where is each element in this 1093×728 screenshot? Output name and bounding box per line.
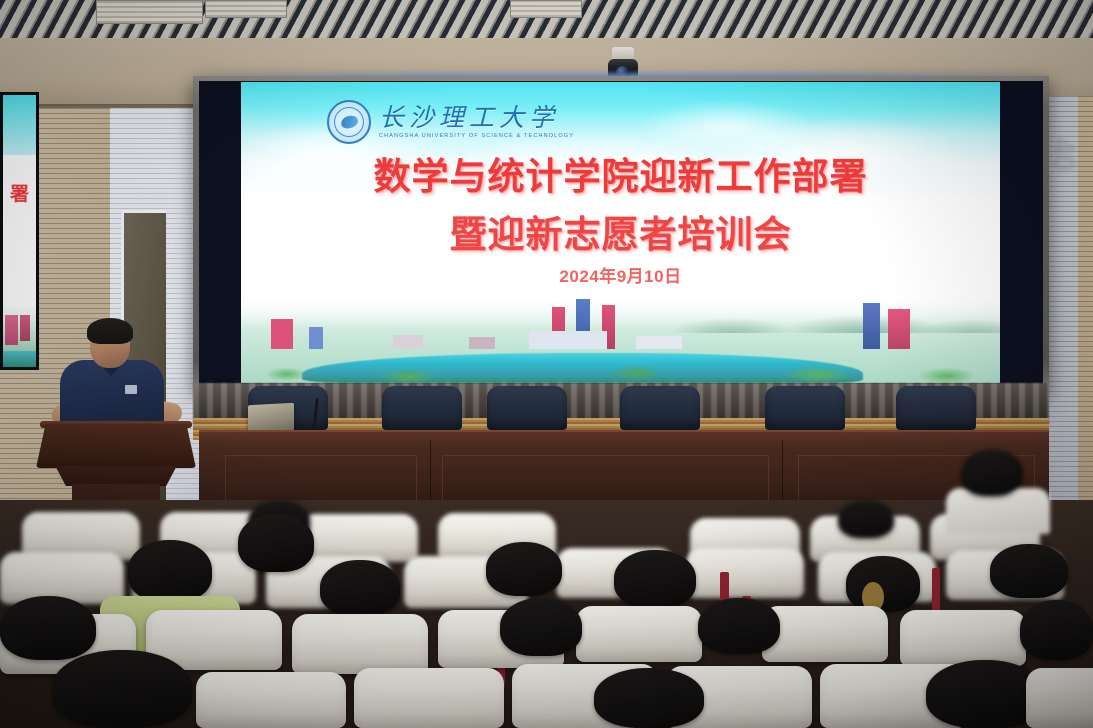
stage-chair (896, 386, 976, 430)
campus-panorama-image (241, 295, 1000, 383)
stage-chair (620, 386, 700, 430)
conference-hall-photo: 40 署 长沙理工大学 CHANGSHA UNIVERSITY OF SCIEN… (0, 0, 1093, 728)
audience-head (962, 452, 1020, 496)
speaker-podium (36, 424, 196, 468)
audience-head (614, 550, 696, 608)
audience-head (990, 544, 1068, 598)
audience-head (1020, 600, 1093, 660)
audience-seat (1026, 668, 1093, 728)
laptop-icon (248, 403, 294, 433)
audience-seat (686, 548, 804, 598)
audience-head (486, 542, 562, 596)
slide-title-line1: 数学与统计学院迎新工作部署 (241, 154, 1000, 201)
led-wall-panel: 长沙理工大学 CHANGSHA UNIVERSITY OF SCIENCE & … (199, 81, 1043, 384)
speaker-hair (87, 318, 133, 344)
audience-seat (196, 672, 346, 728)
stage-chair (765, 386, 845, 430)
left-screen-text: 署 (3, 179, 36, 206)
audience-head (500, 598, 582, 656)
audience-seat (900, 610, 1026, 666)
audience-head (698, 598, 780, 654)
audience-seat (300, 514, 418, 562)
university-seal-icon (327, 100, 371, 144)
audience-head (838, 500, 894, 538)
audience-head (320, 560, 400, 616)
university-logo: 长沙理工大学 CHANGSHA UNIVERSITY OF SCIENCE & … (327, 100, 574, 144)
audience-head (128, 540, 212, 602)
campus-greenery (241, 361, 1000, 383)
stage-chair (382, 386, 462, 430)
air-vent-icon (96, 0, 203, 24)
audience-seat (576, 606, 702, 662)
left-mirror-screen: 署 (0, 92, 39, 370)
podium-mid (50, 466, 182, 486)
university-name-cn: 长沙理工大学 (379, 105, 574, 131)
slide-title-line2: 暨迎新志愿者培训会 (241, 204, 1000, 258)
air-vent-icon (510, 0, 582, 18)
wood-slat-wall-right (1078, 96, 1093, 566)
audience-seat (762, 606, 888, 662)
university-name-en: CHANGSHA UNIVERSITY OF SCIENCE & TECHNOL… (379, 133, 574, 139)
audience-head brown (846, 556, 920, 612)
audience-seat (354, 668, 504, 728)
stage-chair (487, 386, 567, 430)
slide-date: 2024年9月10日 (241, 262, 1000, 287)
presentation-slide: 长沙理工大学 CHANGSHA UNIVERSITY OF SCIENCE & … (241, 82, 1000, 383)
audience-head (0, 596, 96, 660)
audience-head (52, 650, 192, 728)
audience-head (238, 514, 314, 572)
air-vent-icon (205, 0, 287, 18)
audience-head (594, 668, 704, 728)
audience-seat (292, 614, 428, 674)
speaker-badge (125, 385, 137, 394)
